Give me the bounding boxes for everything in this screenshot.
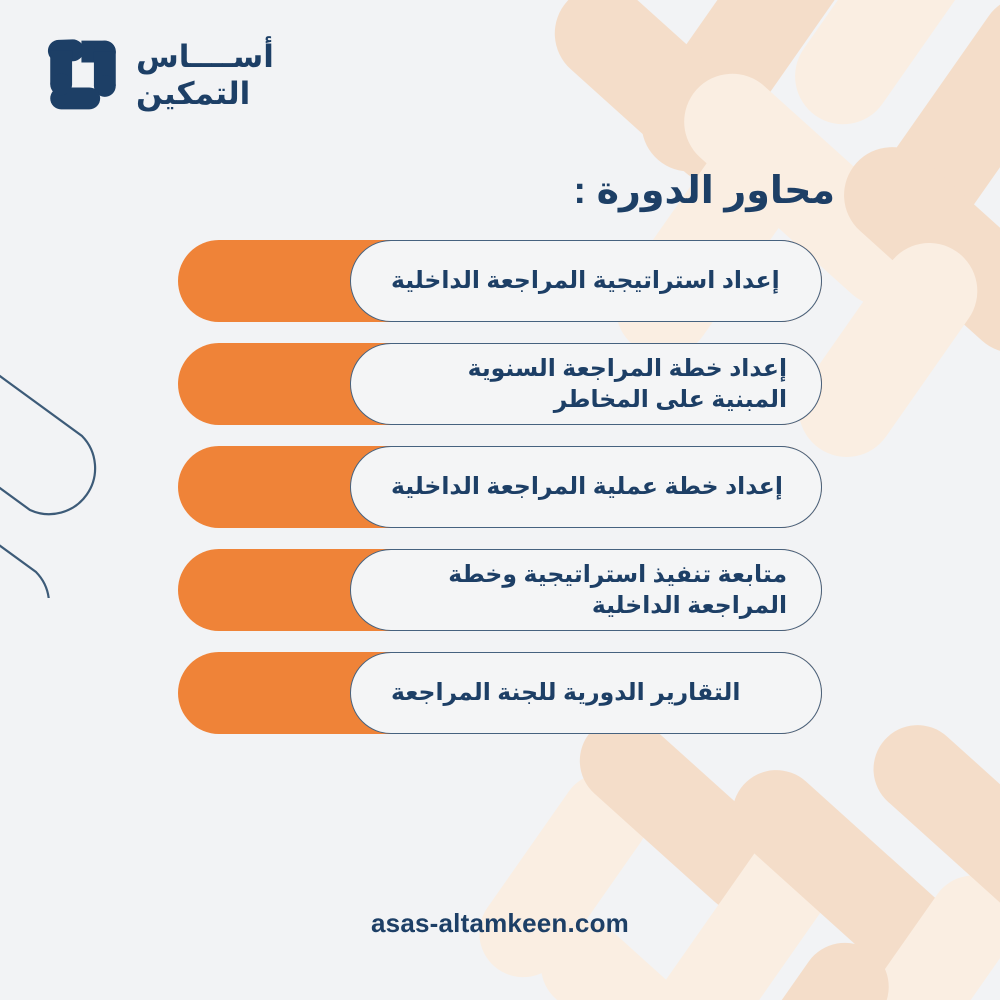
topic-label: متابعة تنفيذ استراتيجية وخطة المراجعة ال… [391,559,787,621]
topic-label-panel: إعداد خطة المراجعة السنوية المبنية على ا… [350,343,822,425]
topic-label-panel: إعداد استراتيجية المراجعة الداخلية [350,240,822,322]
topic-label: التقارير الدورية للجنة المراجعة [391,677,740,708]
page-title: محاور الدورة : [573,168,835,213]
topic-row[interactable]: $ [178,549,822,631]
topic-label-panel: متابعة تنفيذ استراتيجية وخطة المراجعة ال… [350,549,822,631]
brand-logo-line-1: أســــاس [136,41,274,72]
topic-row[interactable]: إعداد خطة عملية المراجعة الداخلية [178,446,822,528]
topic-label-panel: إعداد خطة عملية المراجعة الداخلية [350,446,822,528]
topic-label-panel: التقارير الدورية للجنة المراجعة [350,652,822,734]
brand-logo-line-2: التمكين [136,78,250,109]
poster-canvas: أســــاس التمكين محاور الدورة : [0,0,1000,1000]
decorative-outline-mark-icon [0,318,182,598]
topic-label: إعداد خطة المراجعة السنوية المبنية على ا… [391,353,787,415]
footer-website-url[interactable]: asas-altamkeen.com [0,908,1000,939]
pinwheel-logo-icon [44,36,122,114]
topic-label: إعداد استراتيجية المراجعة الداخلية [391,265,780,296]
brand-logo: أســــاس التمكين [44,36,274,114]
topic-row[interactable]: إعداد خطة المراجعة السنوية المبنية على ا… [178,343,822,425]
topics-list: إعداد استراتيجية المراجعة الداخلية إعداد… [178,240,822,734]
topic-row[interactable]: إعداد استراتيجية المراجعة الداخلية [178,240,822,322]
brand-logo-text: أســــاس التمكين [136,41,274,109]
topic-label: إعداد خطة عملية المراجعة الداخلية [391,471,783,502]
topic-row[interactable]: التقارير الدورية للجنة المراجعة [178,652,822,734]
